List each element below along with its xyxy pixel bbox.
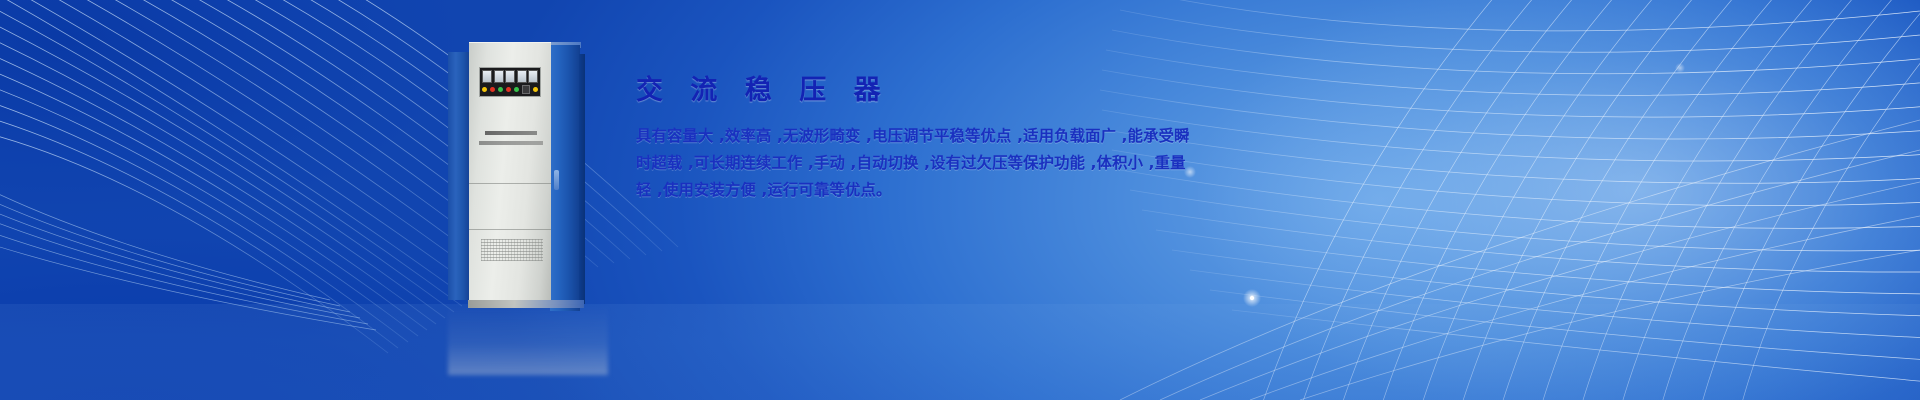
- cabinet-base: [468, 300, 584, 308]
- lamp-red-2: [506, 87, 511, 92]
- description-line-2: 时超载 ,可长期连续工作 ,手动 ,自动切换 ,设有过欠压等保护功能 ,体积小 …: [636, 150, 1156, 177]
- meter-4: [517, 70, 527, 83]
- panel-switch: [522, 85, 530, 94]
- meter-3: [505, 70, 515, 83]
- meter-2: [494, 70, 504, 83]
- product-banner: 交 流 稳 压 器 具有容量大 ,效率高 ,无波形畸变 ,电压调节平稳等优点 ,…: [0, 0, 1920, 400]
- lamp-green-2: [514, 87, 519, 92]
- cabinet-door-handle: [554, 170, 559, 190]
- indicator-lamp-row: [482, 85, 538, 94]
- banner-title: 交 流 稳 压 器: [636, 76, 1196, 106]
- banner-copy: 交 流 稳 压 器 具有容量大 ,效率高 ,无波形畸变 ,电压调节平稳等优点 ,…: [636, 76, 1196, 204]
- floor-reflection-band: [0, 304, 1920, 400]
- cabinet-door-seam-mid: [469, 229, 551, 230]
- meter-5: [528, 70, 538, 83]
- cabinet-front-door: [469, 42, 551, 304]
- cabinet-description-label: [479, 141, 543, 145]
- cabinet-ventilation-grille: [481, 239, 543, 261]
- control-panel: [479, 67, 541, 97]
- banner-description: 具有容量大 ,效率高 ,无波形畸变 ,电压调节平稳等优点 ,适用负载面广 ,能承…: [636, 123, 1156, 204]
- cabinet-right-edge: [579, 54, 585, 304]
- meter-1: [482, 70, 492, 83]
- cabinet-door-seam-top: [469, 183, 551, 184]
- description-line-3: 轻 ,使用安装方便 ,运行可靠等优点。: [636, 177, 1156, 204]
- lamp-yellow-1: [482, 87, 487, 92]
- cabinet-model-label: [485, 131, 537, 135]
- lamp-red-1: [490, 87, 495, 92]
- product-image-voltage-stabilizer: [448, 42, 608, 307]
- cabinet-left-side-panel: [448, 52, 470, 300]
- lamp-green-1: [498, 87, 503, 92]
- meter-row: [482, 70, 538, 83]
- description-line-1: 具有容量大 ,效率高 ,无波形畸变 ,电压调节平稳等优点 ,适用负载面广 ,能承…: [636, 123, 1156, 150]
- lamp-yellow-2: [533, 87, 538, 92]
- product-floor-reflection: [448, 305, 608, 375]
